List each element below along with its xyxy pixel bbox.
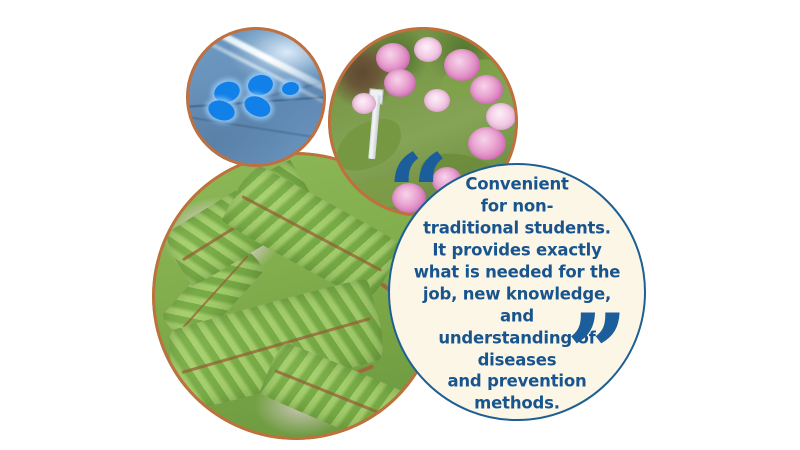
petunia-flower	[486, 103, 516, 130]
petunia-flower	[470, 75, 503, 104]
petunia-flower	[468, 127, 506, 160]
stained-spore	[281, 81, 300, 96]
testimonial-graphic: Convenientfor non-traditional students.I…	[0, 0, 800, 450]
closing-quote-icon: ”	[566, 300, 628, 408]
opening-quote-icon: “	[387, 140, 449, 248]
petunia-flower	[352, 93, 376, 114]
petunia-flower	[414, 37, 442, 62]
petunia-flower	[424, 89, 450, 112]
photo-microscopy	[186, 27, 326, 167]
petunia-flower	[384, 69, 416, 97]
petunia-flower	[444, 49, 480, 81]
hypha-strand	[186, 114, 326, 144]
petunia-flower	[376, 43, 410, 73]
